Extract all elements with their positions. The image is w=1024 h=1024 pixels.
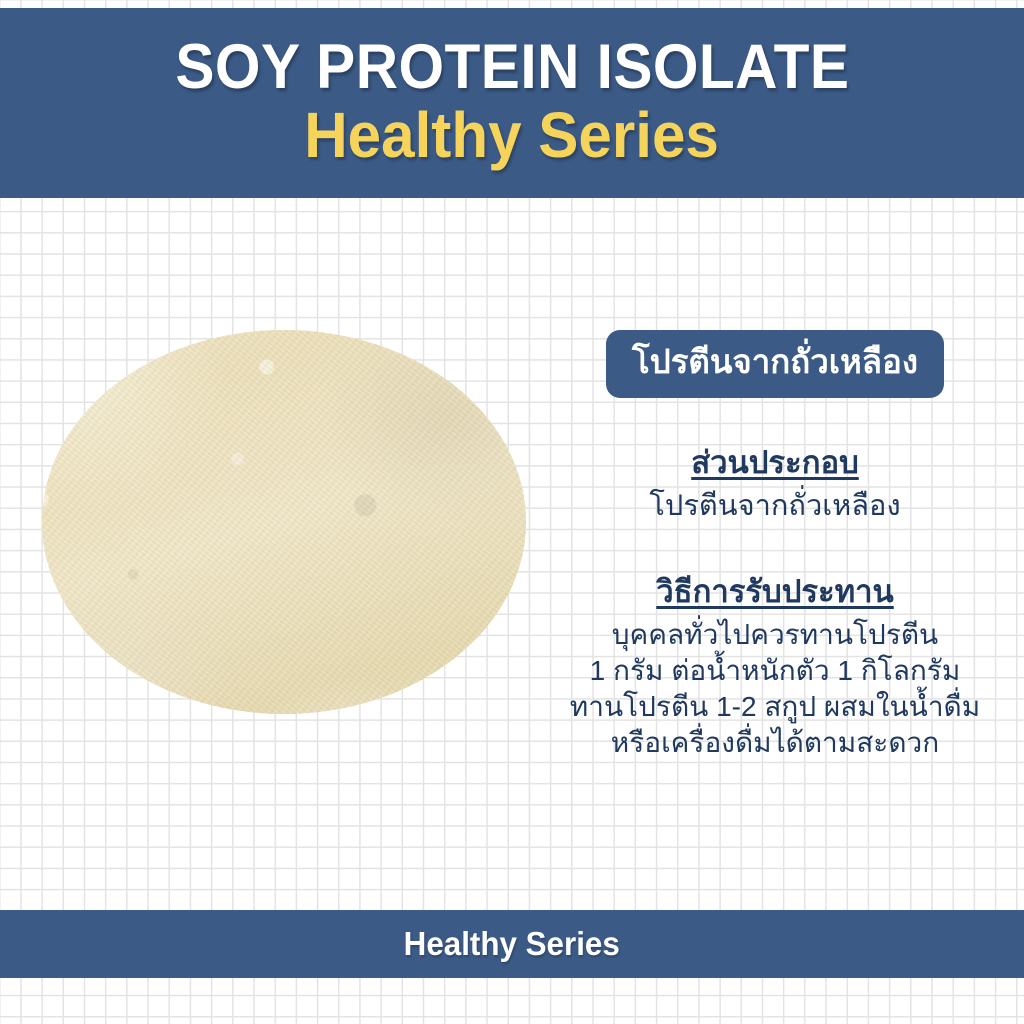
usage-line: ทานโปรตีน 1-2 สกูป ผสมในน้ำดื่ม: [540, 689, 1010, 725]
usage-line: 1 กรัม ต่อน้ำหนักตัว 1 กิโลกรัม: [540, 653, 1010, 689]
product-badge: โปรตีนจากถั่วเหลือง: [606, 330, 944, 398]
footer-brand: Healthy Series: [404, 925, 620, 963]
powder-grain: [42, 330, 526, 714]
powder-texture: [42, 330, 526, 714]
footer-banner: Healthy Series: [0, 910, 1024, 978]
ingredients-section: ส่วนประกอบ โปรตีนจากถั่วเหลือง: [540, 442, 1010, 525]
usage-body: บุคคลทั่วไปควรทานโปรตีน 1 กรัม ต่อน้ำหนั…: [540, 617, 1010, 760]
poster-canvas: SOY PROTEIN ISOLATE Healthy Series โปรตี…: [0, 0, 1024, 1024]
page-title: SOY PROTEIN ISOLATE: [175, 36, 849, 99]
ingredients-body: โปรตีนจากถั่วเหลือง: [540, 488, 1010, 525]
usage-section: วิธีการรับประทาน บุคคลทั่วไปควรทานโปรตีน…: [540, 571, 1010, 760]
page-subtitle: Healthy Series: [305, 103, 720, 167]
usage-line: บุคคลทั่วไปควรทานโปรตีน: [540, 617, 1010, 653]
info-column: โปรตีนจากถั่วเหลือง ส่วนประกอบ โปรตีนจาก…: [540, 330, 1010, 760]
ingredients-heading: ส่วนประกอบ: [540, 442, 1010, 484]
usage-line: หรือเครื่องดื่มได้ตามสะดวก: [540, 725, 1010, 761]
usage-heading: วิธีการรับประทาน: [540, 571, 1010, 613]
header-banner: SOY PROTEIN ISOLATE Healthy Series: [0, 8, 1024, 198]
product-photo: [42, 330, 526, 714]
